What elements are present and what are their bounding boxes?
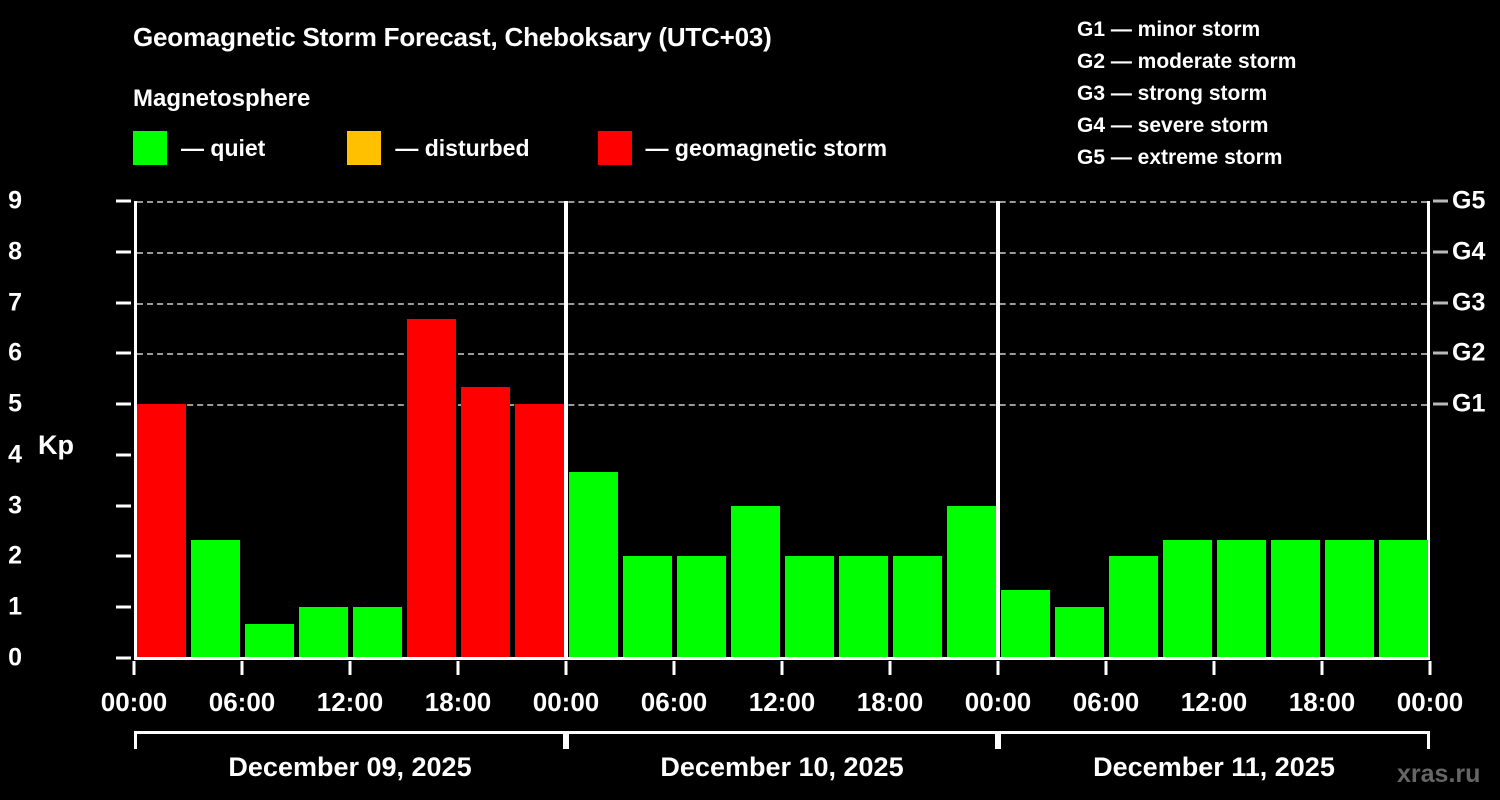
x-axis-tick-label: 18:00: [425, 687, 492, 718]
kp-bar: [731, 506, 780, 658]
x-axis-tick-label: 06:00: [1073, 687, 1140, 718]
legend-label-disturbed: — disturbed: [395, 135, 529, 162]
geomagnetic-forecast-chart: Geomagnetic Storm Forecast, Cheboksary (…: [0, 0, 1500, 800]
y-axis-tick: [116, 555, 131, 558]
day-bracket: [134, 731, 566, 749]
x-axis-tick-label: 12:00: [749, 687, 816, 718]
x-axis-tick: [781, 661, 784, 675]
x-axis-tick: [457, 661, 460, 675]
g-axis-tick-label: G3: [1452, 288, 1485, 317]
kp-bar: [623, 556, 672, 658]
y-axis-tick: [116, 301, 131, 304]
y-axis-tick-label: 6: [0, 341, 22, 366]
kp-bar: [461, 387, 510, 658]
kp-bar: [407, 319, 456, 658]
x-axis-tick-label: 00:00: [1397, 687, 1464, 718]
x-axis-tick-label: 12:00: [1181, 687, 1248, 718]
gscale-legend-item: G4 — severe storm: [1077, 110, 1296, 142]
magnetosphere-legend: — quiet — disturbed — geomagnetic storm: [133, 131, 887, 165]
y-axis-tick: [116, 352, 131, 355]
day-label: December 11, 2025: [1093, 752, 1335, 783]
gscale-legend-item: G1 — minor storm: [1077, 14, 1296, 46]
gscale-legend-item: G2 — moderate storm: [1077, 46, 1296, 78]
y-axis-tick-label: 8: [0, 239, 22, 264]
g-axis-tick: [1433, 200, 1448, 203]
x-axis-tick: [1321, 661, 1324, 675]
y-axis-tick: [116, 504, 131, 507]
day-separator: [996, 201, 1000, 658]
g-axis-tick-label: G2: [1452, 339, 1485, 368]
x-axis-tick-label: 00:00: [533, 687, 600, 718]
magnetosphere-heading: Magnetosphere: [133, 85, 310, 113]
day-label: December 09, 2025: [228, 752, 471, 783]
orange-square-icon: [347, 131, 381, 165]
legend-label-storm: — geomagnetic storm: [646, 135, 888, 162]
x-axis-tick-label: 06:00: [641, 687, 708, 718]
x-axis-tick: [349, 661, 352, 675]
kp-bar: [1217, 540, 1266, 658]
legend-item-storm: — geomagnetic storm: [598, 131, 888, 165]
watermark: xras.ru: [1397, 760, 1480, 789]
kp-bar: [1055, 607, 1104, 658]
x-axis-tick: [1105, 661, 1108, 675]
gscale-legend: G1 — minor storm G2 — moderate storm G3 …: [1077, 14, 1296, 174]
y-axis-tick-label: 9: [0, 189, 22, 214]
kp-bar: [137, 404, 186, 658]
kp-bar: [515, 404, 564, 658]
x-axis-tick-label: 00:00: [101, 687, 168, 718]
y-axis-tick-label: 1: [0, 595, 22, 620]
kp-bar: [1001, 590, 1050, 658]
y-axis-tick-label: 5: [0, 392, 22, 417]
g-axis-tick: [1433, 403, 1448, 406]
page-title: Geomagnetic Storm Forecast, Cheboksary (…: [133, 22, 772, 53]
y-axis-tick-label: 7: [0, 290, 22, 315]
kp-bar: [1271, 540, 1320, 658]
kp-bar: [893, 556, 942, 658]
y-axis-title: Kp: [38, 430, 74, 461]
g-axis-tick: [1433, 352, 1448, 355]
day-bracket: [998, 731, 1430, 749]
x-axis-tick-label: 18:00: [857, 687, 924, 718]
y-axis-tick-label: 4: [0, 442, 22, 467]
gscale-legend-item: G5 — extreme storm: [1077, 142, 1296, 174]
x-axis-tick: [565, 661, 568, 675]
kp-bar: [839, 556, 888, 658]
y-axis-tick: [116, 403, 131, 406]
red-square-icon: [598, 131, 632, 165]
green-square-icon: [133, 131, 167, 165]
kp-bar: [353, 607, 402, 658]
g-axis-tick: [1433, 301, 1448, 304]
kp-bar: [245, 624, 294, 658]
x-axis-tick: [241, 661, 244, 675]
x-axis-tick-label: 18:00: [1289, 687, 1356, 718]
x-axis-tick-label: 12:00: [317, 687, 384, 718]
kp-bar: [1163, 540, 1212, 658]
kp-bar: [569, 472, 618, 658]
x-axis-tick: [1213, 661, 1216, 675]
kp-bar: [677, 556, 726, 658]
legend-item-quiet: — quiet: [133, 131, 265, 165]
x-axis-tick-label: 00:00: [965, 687, 1032, 718]
g-axis-tick: [1433, 250, 1448, 253]
x-axis-tick: [133, 661, 136, 675]
kp-bar: [785, 556, 834, 658]
x-axis-line: [134, 657, 1430, 660]
gscale-legend-item: G3 — strong storm: [1077, 78, 1296, 110]
day-label: December 10, 2025: [660, 752, 903, 783]
y-axis-tick: [116, 250, 131, 253]
bars-layer: [134, 201, 1430, 658]
kp-bar: [191, 540, 240, 658]
day-bracket: [566, 731, 998, 749]
legend-label-quiet: — quiet: [181, 135, 265, 162]
y-axis-tick-label: 3: [0, 493, 22, 518]
g-axis-tick-label: G4: [1452, 237, 1485, 266]
kp-bar: [299, 607, 348, 658]
g-axis-tick-label: G1: [1452, 390, 1485, 419]
x-axis-tick: [997, 661, 1000, 675]
x-axis-tick: [889, 661, 892, 675]
y-axis-tick: [116, 453, 131, 456]
x-axis-tick-label: 06:00: [209, 687, 276, 718]
kp-bar: [947, 506, 996, 658]
y-axis-tick: [116, 200, 131, 203]
g-axis-tick-label: G5: [1452, 187, 1485, 216]
y-axis-tick: [116, 606, 131, 609]
y-axis-tick-label: 0: [0, 646, 22, 671]
x-axis-tick: [1429, 661, 1432, 675]
legend-item-disturbed: — disturbed: [347, 131, 529, 165]
kp-bar: [1109, 556, 1158, 658]
x-axis-tick: [673, 661, 676, 675]
day-separator: [564, 201, 568, 658]
y-axis-tick-label: 2: [0, 544, 22, 569]
y-axis-tick: [116, 657, 131, 660]
kp-bar: [1325, 540, 1374, 658]
kp-bar: [1379, 540, 1428, 658]
